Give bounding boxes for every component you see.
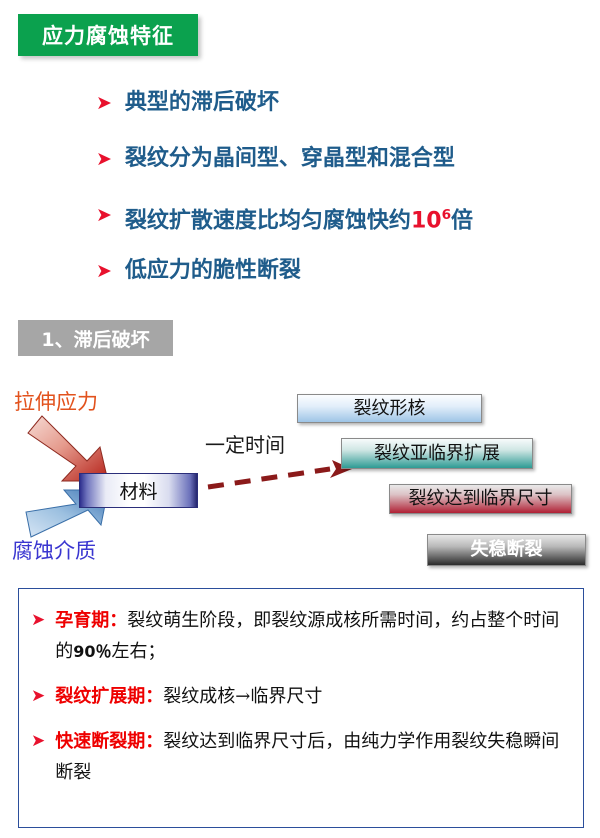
process-step-label: 失稳断裂 [471, 541, 543, 559]
bullet-label: 裂纹分为晶间型、穿晶型和混合型 [125, 144, 455, 174]
process-step-crack-nucleation: 裂纹形核 [297, 394, 482, 423]
list-item: ➤ 快速断裂期：裂纹达到临界尺寸后，由纯力学作用裂纹失稳瞬间断裂 [31, 726, 571, 788]
bullet-label-suffix: 倍 [451, 208, 473, 233]
list-item: ➤ 低应力的脆性断裂 [96, 256, 576, 292]
list-item: ➤ 典型的滞后破坏 [96, 88, 576, 124]
arrow-bullet-icon: ➤ [96, 144, 112, 174]
bullet-label: 低应力的脆性断裂 [125, 256, 301, 286]
process-step-label: 裂纹达到临界尺寸 [409, 490, 553, 508]
process-step-subcritical-growth: 裂纹亚临界扩展 [341, 438, 533, 469]
arrow-bullet-icon: ➤ [31, 726, 45, 757]
list-item: ➤ 裂纹扩散速度比均匀腐蚀快约106倍 [96, 200, 576, 236]
corrosive-medium-label: 腐蚀介质 [12, 535, 96, 565]
page-title: 应力腐蚀特征 [42, 20, 174, 50]
arrow-bullet-icon: ➤ [31, 681, 45, 712]
page-title-banner: 应力腐蚀特征 [18, 14, 198, 56]
note-body-after: 左右； [112, 641, 166, 662]
arrow-bullet-icon: ➤ [31, 605, 45, 636]
note-body-before: 裂纹成核→临界尺寸 [163, 686, 322, 707]
list-item: ➤ 裂纹扩展期：裂纹成核→临界尺寸 [31, 681, 571, 712]
time-dashed-arrow-icon [208, 460, 352, 487]
bullet-label: 裂纹扩散速度比均匀腐蚀快约106倍 [125, 200, 473, 236]
stage-definitions-box: ➤ 孕育期：裂纹萌生阶段，即裂纹源成核所需时间，约占整个时间的90％左右； ➤ … [18, 588, 584, 828]
process-step-label: 裂纹亚临界扩展 [374, 445, 500, 463]
list-item: ➤ 裂纹分为晶间型、穿晶型和混合型 [96, 144, 576, 180]
section-header-label: 1、滞后破坏 [41, 325, 149, 352]
section-header-banner: 1、滞后破坏 [18, 320, 173, 356]
process-step-label: 裂纹形核 [354, 400, 426, 418]
material-box: 材料 [79, 473, 198, 508]
bullet-highlight-exponent: 6 [442, 207, 451, 223]
note-body-number: 90％ [73, 642, 111, 661]
note-term: 裂纹扩展期： [55, 686, 163, 707]
elapsed-time-label: 一定时间 [205, 429, 285, 458]
tensile-stress-arrow-icon [28, 416, 108, 481]
list-item: ➤ 孕育期：裂纹萌生阶段，即裂纹源成核所需时间，约占整个时间的90％左右； [31, 605, 571, 667]
note-term: 快速断裂期： [55, 731, 163, 752]
note-text: 裂纹扩展期：裂纹成核→临界尺寸 [55, 681, 322, 712]
arrow-bullet-icon: ➤ [96, 88, 112, 118]
tensile-stress-label: 拉伸应力 [14, 386, 98, 416]
material-label: 材料 [119, 477, 157, 504]
arrow-bullet-icon: ➤ [96, 256, 112, 286]
bullet-label: 典型的滞后破坏 [125, 88, 279, 118]
arrow-bullet-icon: ➤ [96, 200, 112, 230]
process-step-unstable-fracture: 失稳断裂 [427, 534, 586, 566]
note-text: 快速断裂期：裂纹达到临界尺寸后，由纯力学作用裂纹失稳瞬间断裂 [55, 726, 571, 788]
note-term: 孕育期： [55, 610, 127, 631]
bullet-label-prefix: 裂纹扩散速度比均匀腐蚀快约 [125, 208, 411, 233]
feature-bullet-list: ➤ 典型的滞后破坏 ➤ 裂纹分为晶间型、穿晶型和混合型 ➤ 裂纹扩散速度比均匀腐… [96, 88, 576, 312]
process-step-critical-size: 裂纹达到临界尺寸 [389, 484, 572, 514]
note-text: 孕育期：裂纹萌生阶段，即裂纹源成核所需时间，约占整个时间的90％左右； [55, 605, 571, 667]
bullet-highlight-base: 10 [411, 208, 442, 233]
